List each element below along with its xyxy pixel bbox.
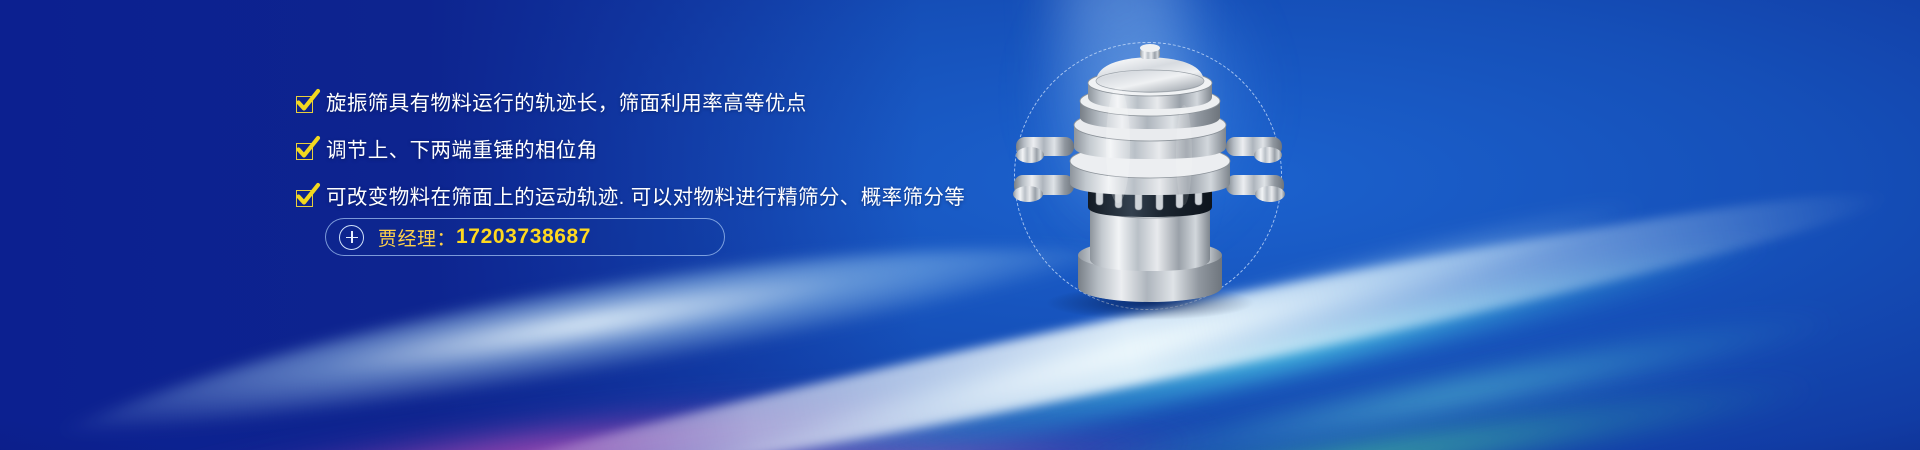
feature-bullet-text: 旋振筛具有物料运行的轨迹长，筛面利用率高等优点 <box>326 90 807 118</box>
contact-phone-number[interactable]: 17203738687 <box>456 225 591 249</box>
feature-bullet-item: 旋振筛具有物料运行的轨迹长，筛面利用率高等优点 <box>296 90 965 118</box>
rotary-vibrating-sieve-image <box>998 55 1298 315</box>
contact-phone-button[interactable]: 贾经理： 17203738687 <box>325 218 725 256</box>
feature-bullet-item: 调节上、下两端重锤的相位角 <box>296 137 965 165</box>
feature-bullet-text: 调节上、下两端重锤的相位角 <box>326 137 598 165</box>
banner-text-content: 旋振筛具有物料运行的轨迹长，筛面利用率高等优点 调节上、下两端重锤的相位角 可改… <box>0 0 1000 450</box>
checkbox-checked-icon <box>296 143 313 160</box>
contact-label: 贾经理： <box>378 224 456 251</box>
promo-banner: 旋振筛具有物料运行的轨迹长，筛面利用率高等优点 调节上、下两端重锤的相位角 可改… <box>0 0 1920 450</box>
checkbox-checked-icon <box>296 96 313 113</box>
checkbox-checked-icon <box>296 190 313 207</box>
feature-bullet-list: 旋振筛具有物料运行的轨迹长，筛面利用率高等优点 调节上、下两端重锤的相位角 可改… <box>296 90 965 231</box>
feature-bullet-item: 可改变物料在筛面上的运动轨迹. 可以对物料进行精筛分、概率筛分等 <box>296 184 965 212</box>
feature-bullet-text: 可改变物料在筛面上的运动轨迹. 可以对物料进行精筛分、概率筛分等 <box>326 184 965 212</box>
plus-circle-icon <box>339 225 364 250</box>
